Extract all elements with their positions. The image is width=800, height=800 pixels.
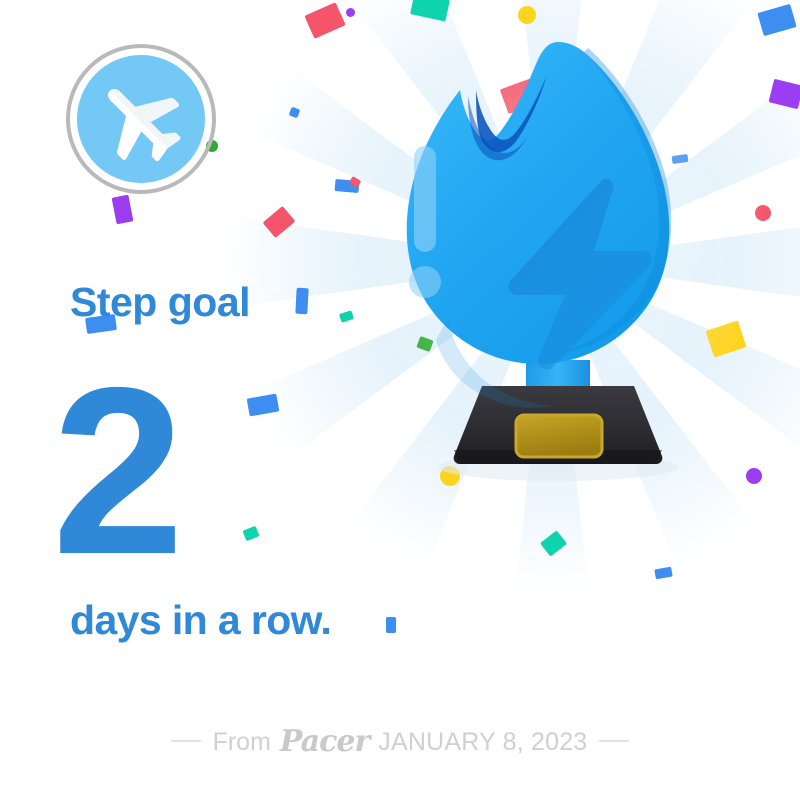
- confetti-quad: [769, 79, 800, 110]
- footer-rule-left: [171, 740, 201, 742]
- confetti-quad: [295, 288, 308, 315]
- confetti-quad: [386, 617, 396, 633]
- confetti-dot: [346, 8, 355, 17]
- confetti-dot: [518, 6, 536, 24]
- flame-trophy-icon: [330, 30, 770, 510]
- airplane-icon: [77, 55, 205, 183]
- footer-rule-right: [599, 740, 629, 742]
- confetti-quad: [263, 206, 296, 238]
- streak-count: 2: [52, 353, 178, 591]
- confetti-quad: [289, 107, 301, 119]
- pacer-logo: Pacer: [280, 724, 369, 759]
- activity-badge[interactable]: [66, 44, 216, 194]
- footer-text: From Pacer JANUARY 8, 2023: [213, 723, 588, 758]
- page-title: Step goal: [70, 282, 250, 323]
- footer: From Pacer JANUARY 8, 2023: [0, 723, 800, 758]
- footer-date: JANUARY 8, 2023: [378, 728, 587, 757]
- confetti-quad: [242, 526, 259, 541]
- confetti-quad: [654, 567, 672, 580]
- confetti-quad: [410, 0, 450, 22]
- footer-from-label: From: [213, 728, 271, 757]
- confetti-quad: [112, 195, 134, 225]
- confetti-quad: [247, 394, 280, 417]
- confetti-quad: [540, 530, 567, 556]
- streak-achievement-card: Step goal 2 days in a row. From Pacer JA…: [0, 0, 800, 800]
- streak-subtitle: days in a row.: [70, 600, 331, 641]
